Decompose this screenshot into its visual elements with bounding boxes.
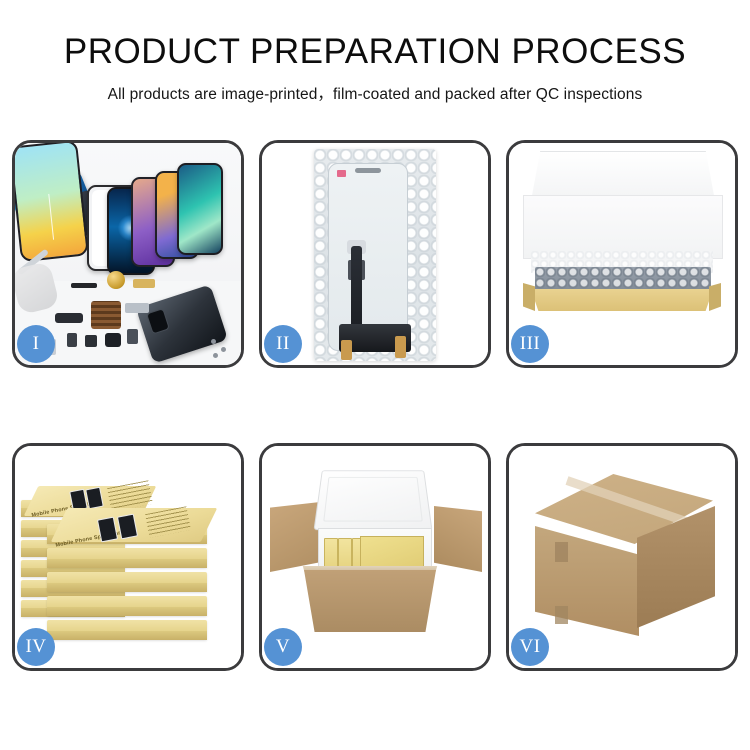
gold-contact-left	[341, 340, 352, 360]
foam-box-lid	[314, 470, 433, 530]
step-badge-1: I	[17, 325, 55, 363]
screw-icon	[221, 347, 226, 352]
step-badge-3: III	[511, 325, 549, 363]
stacked-box	[47, 620, 207, 640]
phone-cracked-screen	[15, 143, 89, 262]
process-step-panel-6[interactable]: VI	[506, 443, 738, 671]
flex-cable-dark	[55, 313, 83, 323]
step-badge-4: IV	[17, 628, 55, 666]
process-step-panel-4[interactable]: Mobile Phone Spare Parts Mobile Phone Sp…	[12, 443, 244, 671]
box-lid-open	[531, 151, 715, 201]
flex-cable-gold	[133, 279, 155, 288]
flex-cable-silver	[125, 303, 149, 313]
lcd-screen-assembly	[328, 163, 408, 351]
header: PRODUCT PREPARATION PROCESS All products…	[0, 0, 750, 104]
antenna-strip	[71, 283, 97, 288]
bubble-wrap-bag	[314, 149, 436, 361]
wireless-charging-coil	[107, 271, 125, 289]
battery-connector	[127, 329, 138, 344]
pink-label-sticker	[337, 170, 346, 177]
stacked-box	[47, 548, 207, 568]
phone-display-teal	[177, 163, 223, 255]
product-process-infographic: PRODUCT PREPARATION PROCESS All products…	[0, 0, 750, 750]
box-back-wall	[523, 195, 723, 259]
stacked-box	[47, 572, 207, 592]
carton-body	[304, 570, 436, 632]
screen-notch	[355, 168, 381, 173]
tray-flap-left	[523, 283, 535, 311]
box-stack: Mobile Phone Spare Parts Mobile Phone Sp…	[21, 464, 235, 660]
box-side	[47, 559, 207, 568]
page-title: PRODUCT PREPARATION PROCESS	[0, 34, 750, 71]
screen-crack	[48, 194, 54, 240]
chip-grid	[91, 301, 121, 329]
carton-front-face	[535, 526, 639, 636]
sealing-tape-front-lower	[555, 606, 568, 624]
process-step-panel-3[interactable]: III	[506, 140, 738, 368]
box-side	[47, 583, 207, 592]
carton-flap-left	[270, 502, 320, 572]
side-button	[67, 333, 77, 347]
sealing-tape-front-upper	[555, 542, 568, 562]
carton-flap-right	[434, 506, 482, 572]
phone-back-housing	[136, 284, 228, 363]
kraft-tray-front	[527, 289, 717, 311]
tray-flap-right	[709, 283, 721, 311]
screw-icon	[213, 353, 218, 358]
box-side	[47, 607, 207, 616]
vibration-motor	[85, 335, 97, 347]
process-step-panel-2[interactable]: II	[259, 140, 491, 368]
speaker-module	[105, 333, 121, 347]
camera-module	[146, 308, 170, 334]
process-step-panel-1[interactable]: I	[12, 140, 244, 368]
step-badge-2: II	[264, 325, 302, 363]
process-step-panel-5[interactable]: V	[259, 443, 491, 671]
stacked-box	[47, 596, 207, 616]
step-badge-5: V	[264, 628, 302, 666]
page-subtitle: All products are image-printed，film-coat…	[0, 82, 750, 104]
process-step-grid: I	[12, 140, 738, 671]
box-side	[47, 631, 207, 640]
step-badge-6: VI	[511, 628, 549, 666]
gold-contact-right	[395, 336, 406, 358]
screw-icon	[211, 339, 216, 344]
